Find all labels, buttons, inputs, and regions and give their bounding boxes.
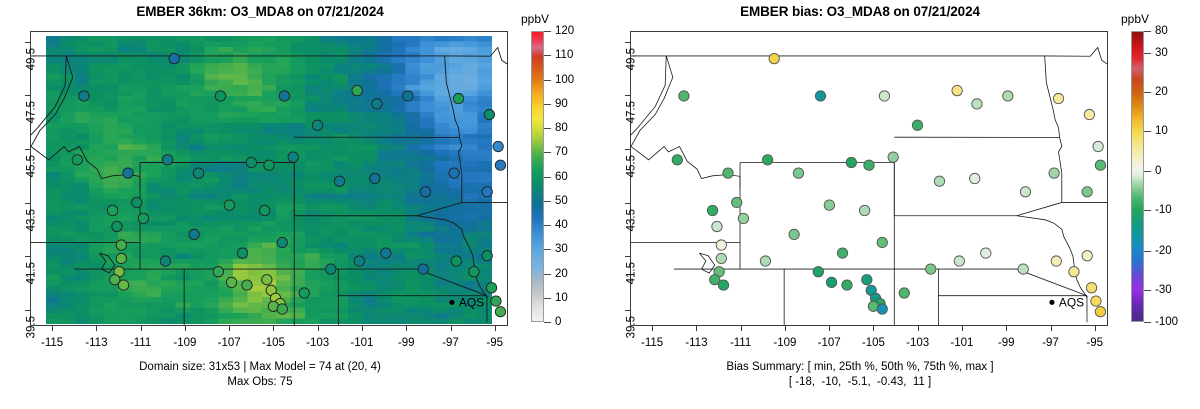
colorbar-tick-label: 60 [555, 171, 568, 183]
observation-marker[interactable] [326, 264, 336, 274]
x-tick [1006, 326, 1007, 331]
state-boundary [631, 56, 740, 189]
x-tick [741, 326, 742, 331]
observation-marker[interactable] [718, 280, 728, 290]
observation-marker[interactable] [482, 187, 492, 197]
x-tick [362, 326, 363, 331]
observation-marker[interactable] [403, 91, 413, 101]
colorbar-bias-gradient [1131, 31, 1144, 322]
x-tick-label: -107 [218, 337, 241, 349]
observation-marker[interactable] [972, 99, 982, 109]
colorbar-tick [1144, 251, 1151, 252]
observation-marker[interactable] [277, 304, 287, 314]
observation-marker[interactable] [1053, 93, 1063, 103]
colorbar-tick-label: 70 [555, 146, 568, 158]
observation-marker[interactable] [451, 256, 461, 266]
caption-line-1: Domain size: 31x53 | Max Model = 74 at (… [0, 360, 520, 375]
observation-marker[interactable] [934, 176, 944, 186]
colorbar-tick [544, 152, 551, 153]
x-tick-label: -95 [1086, 337, 1103, 349]
observation-marker[interactable] [107, 205, 117, 215]
observation-marker[interactable] [879, 91, 889, 101]
x-tick-label: -109 [173, 337, 196, 349]
state-boundary [699, 253, 714, 273]
y-tick [625, 149, 630, 150]
observation-marker[interactable] [716, 253, 726, 263]
observation-marker[interactable] [1049, 168, 1059, 178]
observation-marker[interactable] [482, 251, 492, 261]
x-tick [273, 326, 274, 331]
panel-bias-x-axis: -115-113-111-109-107-105-103-101-99-97-9… [630, 331, 1108, 351]
state-boundary [1059, 137, 1062, 202]
observation-marker[interactable] [1082, 187, 1092, 197]
colorbar-tick-label: -30 [1155, 284, 1172, 296]
x-tick [451, 326, 452, 331]
observation-marker[interactable] [449, 168, 459, 178]
colorbar-tick [1144, 322, 1151, 323]
observation-marker[interactable] [418, 264, 428, 274]
observation-marker[interactable] [1003, 91, 1013, 101]
observation-marker[interactable] [859, 205, 869, 215]
observation-marker[interactable] [877, 237, 887, 247]
panel-model-caption: Domain size: 31x53 | Max Model = 74 at (… [0, 360, 520, 390]
observation-marker[interactable] [262, 275, 272, 285]
observation-marker[interactable] [1084, 109, 1094, 119]
x-tick [229, 326, 230, 331]
y-tick-label: 43.5 [625, 209, 637, 231]
observation-marker[interactable] [242, 280, 252, 290]
observation-marker[interactable] [899, 288, 909, 298]
observation-marker[interactable] [116, 253, 126, 263]
observation-marker[interactable] [72, 155, 82, 165]
observation-marker[interactable] [1051, 256, 1061, 266]
state-boundary [417, 216, 487, 299]
colorbar-tick-label: 40 [555, 219, 568, 231]
observation-marker[interactable] [862, 275, 872, 285]
observation-marker[interactable] [837, 248, 847, 258]
x-tick-label: -105 [862, 337, 885, 349]
colorbar-tick [544, 31, 551, 32]
observation-marker[interactable] [493, 141, 503, 151]
y-tick [25, 149, 30, 150]
observation-marker[interactable] [469, 267, 479, 277]
x-tick-label: -97 [442, 337, 459, 349]
state-boundary [294, 202, 461, 215]
state-boundary [31, 47, 507, 63]
colorbar-tick [1144, 31, 1151, 32]
colorbar-tick [544, 298, 551, 299]
panel-bias: EMBER bias: O3_MDA8 on 07/21/2024 AQS 39… [600, 0, 1200, 409]
observation-marker[interactable] [1018, 264, 1028, 274]
colorbar-tick-label: 50 [555, 195, 568, 207]
model-vector-layer: AQS [31, 32, 507, 325]
colorbar-tick [544, 80, 551, 81]
observation-marker[interactable] [112, 221, 122, 231]
observation-marker[interactable] [970, 173, 980, 183]
observation-marker[interactable] [116, 240, 126, 250]
observation-marker[interactable] [793, 168, 803, 178]
colorbar-tick-label: 110 [555, 49, 573, 61]
colorbar-tick-label: 10 [1155, 125, 1168, 137]
state-boundary [894, 269, 1087, 296]
state-boundary [31, 189, 140, 242]
observation-marker[interactable] [813, 267, 823, 277]
colorbar-tick [1144, 290, 1151, 291]
colorbar-tick [544, 55, 551, 56]
observation-marker[interactable] [132, 197, 142, 207]
observation-marker[interactable] [723, 168, 733, 178]
x-tick [185, 326, 186, 331]
y-tick-label: 45.5 [625, 155, 637, 177]
y-tick-label: 41.5 [625, 262, 637, 284]
colorbar-tick-label: 90 [555, 98, 568, 110]
y-tick [625, 95, 630, 96]
state-boundary [631, 189, 740, 242]
observation-marker[interactable] [842, 280, 852, 290]
x-tick-label: -95 [486, 337, 503, 349]
colorbar-tick [1144, 53, 1151, 54]
x-tick [652, 326, 653, 331]
colorbar-bias-title: ppbV [1121, 12, 1149, 26]
x-tick-label: -111 [730, 337, 751, 349]
x-tick [829, 326, 830, 331]
x-tick-label: -115 [41, 337, 63, 349]
observation-marker[interactable] [679, 91, 689, 101]
observation-marker[interactable] [826, 277, 836, 287]
x-tick [52, 326, 53, 331]
state-boundary [99, 253, 114, 273]
colorbar-tick [544, 225, 551, 226]
observation-marker[interactable] [299, 288, 309, 298]
x-tick-label: -99 [998, 337, 1015, 349]
observation-marker[interactable] [118, 280, 128, 290]
observation-marker[interactable] [484, 109, 494, 119]
caption-line-1: Bias Summary: [ min, 25th %, 50th %, 75t… [600, 360, 1120, 375]
x-tick-label: -105 [262, 337, 285, 349]
y-tick-label: 41.5 [25, 262, 37, 284]
colorbar-tick [1144, 210, 1151, 211]
observation-marker[interactable] [486, 283, 496, 293]
colorbar-model-title: ppbV [521, 12, 549, 26]
observation-marker[interactable] [237, 248, 247, 258]
observation-marker[interactable] [912, 120, 922, 130]
x-tick [141, 326, 142, 331]
observation-marker[interactable] [846, 157, 856, 167]
observation-marker[interactable] [264, 160, 274, 170]
y-tick-label: 47.5 [625, 101, 637, 123]
panel-model-y-axis: 39.541.543.545.547.549.5 [2, 31, 28, 326]
observation-marker[interactable] [138, 213, 148, 223]
observation-marker[interactable] [79, 91, 89, 101]
observation-marker[interactable] [354, 256, 364, 266]
x-tick [918, 326, 919, 331]
observation-marker[interactable] [716, 240, 726, 250]
state-boundary [31, 56, 140, 189]
panel-model-mapclip: AQS [31, 32, 507, 325]
observation-marker[interactable] [160, 256, 170, 266]
colorbar-tick-label: 120 [555, 25, 574, 37]
observation-marker[interactable] [491, 296, 501, 306]
observation-marker[interactable] [420, 187, 430, 197]
observation-marker[interactable] [712, 221, 722, 231]
observation-marker[interactable] [495, 160, 505, 170]
colorbar-tick-label: 80 [555, 122, 568, 134]
observation-marker[interactable] [762, 155, 772, 165]
colorbar-tick-label: 20 [555, 268, 568, 280]
x-tick [962, 326, 963, 331]
state-boundary [1017, 216, 1087, 299]
colorbar-bias-ticks: -100-30-20-10010203080 [1144, 31, 1200, 322]
colorbar-tick-label: 30 [555, 243, 568, 255]
observation-marker[interactable] [888, 152, 898, 162]
x-tick [495, 326, 496, 331]
observation-marker[interactable] [1095, 307, 1105, 317]
observation-marker[interactable] [1020, 187, 1030, 197]
observation-marker[interactable] [226, 277, 236, 287]
y-tick [625, 256, 630, 257]
observation-marker[interactable] [370, 173, 380, 183]
state-boundary [459, 137, 462, 202]
x-tick-label: -113 [85, 337, 107, 349]
colorbar-tick-label: -10 [1155, 204, 1172, 216]
colorbar-tick-label: -20 [1155, 245, 1172, 257]
colorbar-tick [544, 201, 551, 202]
observation-marker[interactable] [162, 155, 172, 165]
observation-marker[interactable] [213, 267, 223, 277]
aqs-legend-dot [449, 300, 454, 305]
figure-root: EMBER 36km: O3_MDA8 on 07/21/2024 AQS 39… [0, 0, 1200, 409]
aqs-legend-dot [1049, 300, 1054, 305]
observation-marker[interactable] [381, 248, 391, 258]
colorbar-tick-label: 20 [1155, 86, 1168, 98]
y-tick-label: 43.5 [25, 209, 37, 231]
y-tick [25, 95, 30, 96]
y-tick [625, 203, 630, 204]
colorbar-tick [544, 274, 551, 275]
colorbar-tick-label: 0 [1155, 165, 1161, 177]
colorbar-tick [544, 104, 551, 105]
y-tick-label: 45.5 [25, 155, 37, 177]
observation-marker[interactable] [789, 229, 799, 239]
observation-marker[interactable] [453, 93, 463, 103]
observation-marker[interactable] [1093, 141, 1103, 151]
x-tick [1095, 326, 1096, 331]
observation-marker[interactable] [123, 168, 133, 178]
observation-marker[interactable] [738, 213, 748, 223]
panel-model: EMBER 36km: O3_MDA8 on 07/21/2024 AQS 39… [0, 0, 600, 409]
observation-marker[interactable] [1091, 296, 1101, 306]
observation-marker[interactable] [277, 237, 287, 247]
state-boundary [294, 269, 487, 296]
observation-marker[interactable] [954, 256, 964, 266]
x-tick-label: -103 [306, 337, 329, 349]
observation-marker[interactable] [707, 205, 717, 215]
x-tick [696, 326, 697, 331]
x-tick-label: -111 [130, 337, 151, 349]
observation-marker[interactable] [288, 152, 298, 162]
observation-marker[interactable] [1086, 283, 1096, 293]
observation-marker[interactable] [193, 168, 203, 178]
observation-marker[interactable] [672, 155, 682, 165]
y-tick [625, 42, 630, 43]
observation-marker[interactable] [824, 200, 834, 210]
colorbar-tick-label: 30 [1155, 47, 1168, 59]
panel-model-plot: AQS [30, 31, 508, 326]
state-boundary [631, 47, 1107, 63]
x-tick [785, 326, 786, 331]
panel-bias-title: EMBER bias: O3_MDA8 on 07/21/2024 [600, 4, 1120, 19]
x-tick-label: -99 [398, 337, 415, 349]
colorbar-tick [1144, 131, 1151, 132]
observation-marker[interactable] [189, 229, 199, 239]
observation-marker[interactable] [495, 307, 505, 317]
x-tick-label: -97 [1042, 337, 1059, 349]
x-tick-label: -109 [773, 337, 796, 349]
panel-bias-y-axis: 39.541.543.545.547.549.5 [602, 31, 628, 326]
observation-marker[interactable] [312, 120, 322, 130]
x-tick [406, 326, 407, 331]
colorbar-tick [544, 322, 551, 323]
y-tick [25, 42, 30, 43]
colorbar-tick [544, 249, 551, 250]
observation-marker[interactable] [981, 248, 991, 258]
y-tick [25, 256, 30, 257]
observation-marker[interactable] [334, 176, 344, 186]
y-tick [25, 203, 30, 204]
observation-marker[interactable] [279, 91, 289, 101]
observation-marker[interactable] [815, 91, 825, 101]
y-tick-label: 49.5 [25, 48, 37, 70]
aqs-legend-label: AQS [1059, 295, 1084, 309]
observation-marker[interactable] [224, 200, 234, 210]
caption-line-2: [ -18, -10, -5.1, -0.43, 11 ] [600, 375, 1120, 390]
colorbar-tick [544, 128, 551, 129]
observation-marker[interactable] [352, 85, 362, 95]
x-tick [96, 326, 97, 331]
y-tick-label: 49.5 [625, 48, 637, 70]
observation-marker[interactable] [769, 53, 779, 63]
observation-marker[interactable] [246, 157, 256, 167]
observation-marker[interactable] [877, 304, 887, 314]
x-tick-label: -115 [641, 337, 663, 349]
x-tick-label: -101 [350, 337, 373, 349]
panel-bias-mapclip: AQS [631, 32, 1107, 325]
observation-marker[interactable] [926, 264, 936, 274]
panel-model-title: EMBER 36km: O3_MDA8 on 07/21/2024 [0, 4, 520, 19]
colorbar-tick-label: 100 [555, 74, 574, 86]
panel-bias-plot: AQS [630, 31, 1108, 326]
observation-marker[interactable] [1082, 251, 1092, 261]
observation-marker[interactable] [1095, 160, 1105, 170]
aqs-legend-label: AQS [459, 295, 484, 309]
colorbar-model-ticks: 0102030405060708090100110120 [544, 31, 604, 322]
y-tick [625, 310, 630, 311]
bias-vector-layer: AQS [631, 32, 1107, 325]
x-tick [873, 326, 874, 331]
caption-line-2: Max Obs: 75 [0, 375, 520, 390]
observation-marker[interactable] [372, 99, 382, 109]
colorbar-tick-label: 0 [555, 316, 561, 328]
panel-model-x-axis: -115-113-111-109-107-105-103-101-99-97-9… [30, 331, 508, 351]
observation-marker[interactable] [259, 205, 269, 215]
colorbar-tick [1144, 171, 1151, 172]
x-tick-label: -113 [685, 337, 707, 349]
colorbar-model-gradient [531, 31, 544, 322]
colorbar-tick-label: 80 [1155, 25, 1168, 37]
x-tick [318, 326, 319, 331]
observation-marker[interactable] [1069, 267, 1079, 277]
x-tick [1051, 326, 1052, 331]
x-tick-label: -101 [950, 337, 973, 349]
y-tick [25, 310, 30, 311]
observation-marker[interactable] [169, 53, 179, 63]
x-tick-label: -103 [906, 337, 929, 349]
observation-marker[interactable] [215, 91, 225, 101]
observation-marker[interactable] [760, 256, 770, 266]
y-tick-label: 47.5 [25, 101, 37, 123]
x-tick-label: -107 [818, 337, 841, 349]
colorbar-tick [1144, 92, 1151, 93]
observation-marker[interactable] [952, 85, 962, 95]
panel-bias-caption: Bias Summary: [ min, 25th %, 50th %, 75t… [600, 360, 1120, 390]
colorbar-tick-label: 10 [555, 292, 568, 304]
observation-marker[interactable] [732, 197, 742, 207]
state-boundary [894, 202, 1061, 215]
observation-marker[interactable] [864, 160, 874, 170]
colorbar-tick-label: -100 [1155, 316, 1178, 328]
colorbar-tick [544, 177, 551, 178]
